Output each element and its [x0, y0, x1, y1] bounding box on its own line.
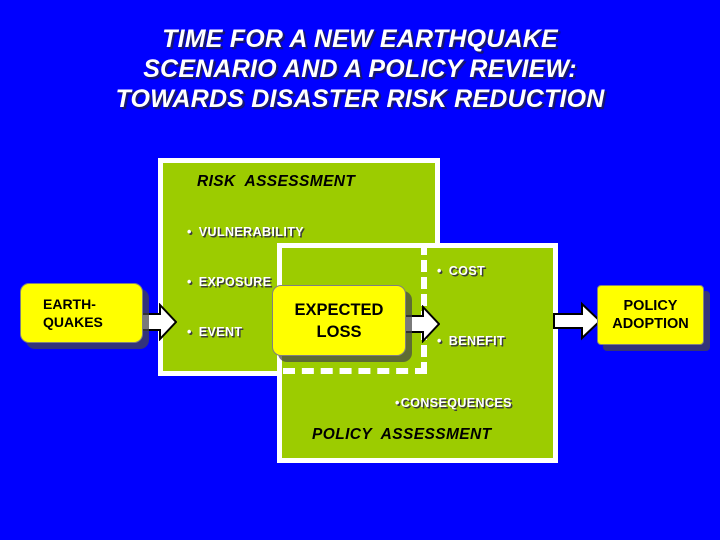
earthquakes-node[interactable]: EARTH- QUAKES — [20, 283, 143, 343]
bullet-label: EVENT — [199, 325, 243, 339]
bullet-consequences: •CONSEQUENCES — [395, 396, 512, 410]
page-title: TIME FOR A NEW EARTHQUAKE SCENARIO AND A… — [0, 24, 720, 114]
bullet-label: COST — [449, 264, 485, 278]
bullet-benefit: •BENEFIT — [437, 334, 505, 348]
bullet-dot-icon: • — [395, 396, 400, 410]
bullet-dot-icon: • — [187, 225, 192, 239]
policy-adoption-node[interactable]: POLICY ADOPTION — [597, 285, 704, 345]
risk-assessment-heading: RISK ASSESSMENT — [197, 173, 355, 191]
expected-loss-label: EXPECTED LOSS — [295, 299, 384, 343]
expected-loss-node[interactable]: EXPECTED LOSS — [272, 285, 406, 356]
policy-adoption-label: POLICY ADOPTION — [612, 297, 689, 333]
policy-assessment-heading: POLICY ASSESSMENT — [312, 426, 491, 444]
arrow-policy-to-adoption-icon — [553, 300, 601, 342]
bullet-dot-icon: • — [187, 325, 192, 339]
bullet-cost: •COST — [437, 264, 485, 278]
bullet-vulnerability: •VULNERABILITY — [187, 225, 304, 239]
slide-canvas: TIME FOR A NEW EARTHQUAKE SCENARIO AND A… — [0, 0, 720, 540]
bullet-event: •EVENT — [187, 325, 242, 339]
bullet-label: VULNERABILITY — [199, 225, 304, 239]
bullet-label: EXPOSURE — [199, 275, 272, 289]
arrow-expected-loss-to-policy-icon — [404, 305, 440, 343]
arrow-earthquakes-to-risk-icon — [141, 303, 177, 341]
bullet-label: BENEFIT — [449, 334, 505, 348]
bullet-dot-icon: • — [437, 264, 442, 278]
bullet-dot-icon: • — [187, 275, 192, 289]
bullet-exposure: •EXPOSURE — [187, 275, 271, 289]
earthquakes-label: EARTH- QUAKES — [43, 295, 103, 331]
bullet-label: CONSEQUENCES — [401, 396, 512, 410]
